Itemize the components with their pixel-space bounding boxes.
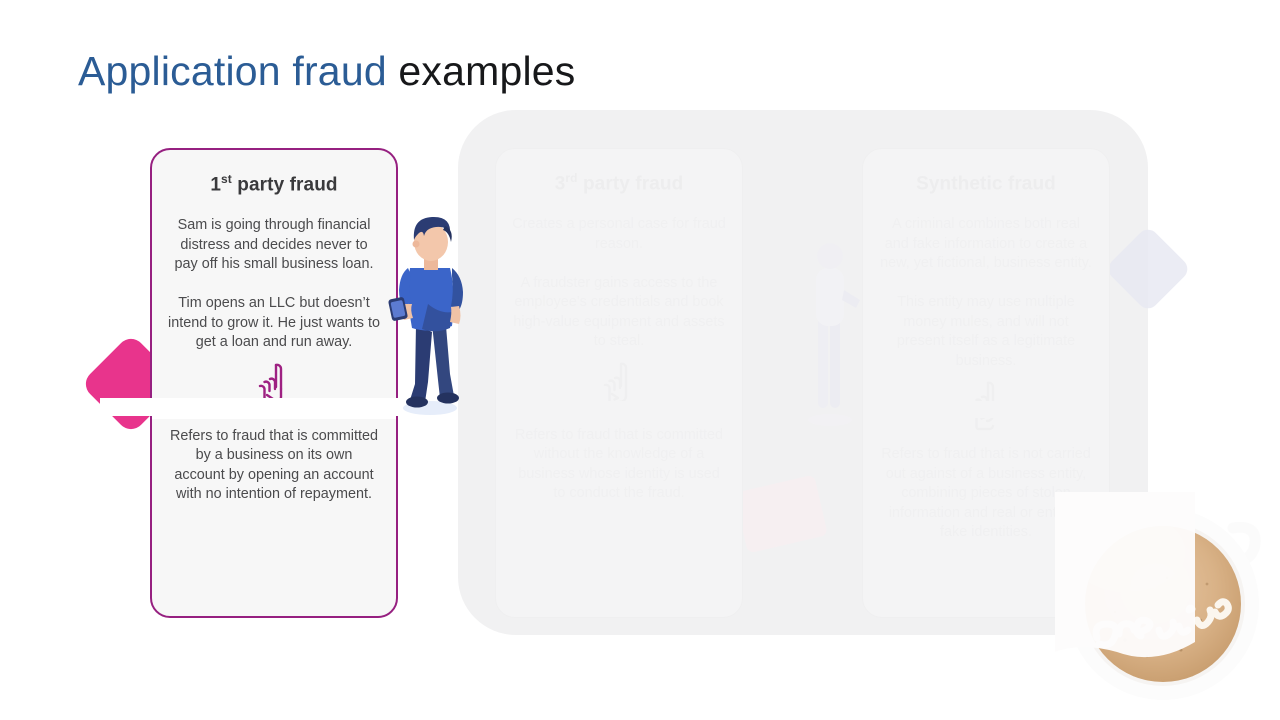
faded-person-illustration — [800, 238, 860, 428]
card-third-party-fraud[interactable]: 3rd party fraud Creates a personal case … — [495, 148, 743, 618]
card-heading-prefix: 1 — [210, 174, 221, 195]
page-title: Application fraud examples — [78, 48, 576, 95]
page-title-accent: Application fraud — [78, 48, 387, 94]
man-with-phone-illustration — [382, 212, 480, 417]
coffee-cup-image — [1055, 492, 1280, 720]
card-body-text: Creates a personal case for fraud reason… — [496, 215, 742, 352]
card-footer-text: Refers to fraud that is committed withou… — [496, 426, 742, 504]
card-heading-rest: party fraud — [232, 174, 338, 195]
card-footer-text: Refers to fraud that is committed by a b… — [152, 427, 396, 505]
card-divider-band — [863, 401, 1109, 418]
card-heading-prefix: 3 — [555, 173, 566, 194]
page-title-rest: examples — [387, 48, 576, 94]
card-body-text: A criminal combines both real and fake i… — [863, 215, 1109, 371]
card-heading-rest: party fraud — [578, 173, 684, 194]
card-heading: 3rd party fraud — [496, 171, 742, 195]
card-first-party-fraud[interactable]: 1st party fraud Sam is going through fin… — [150, 148, 398, 618]
card-body-text: Sam is going through financial distress … — [152, 216, 396, 353]
card-heading: 1st party fraud — [152, 172, 396, 196]
card-divider-band — [496, 401, 742, 418]
card-heading-rest: Synthetic fraud — [916, 173, 1056, 194]
card-heading-superscript: st — [221, 172, 232, 186]
card-heading-superscript: rd — [565, 171, 577, 185]
card-heading: Synthetic fraud — [863, 171, 1109, 195]
